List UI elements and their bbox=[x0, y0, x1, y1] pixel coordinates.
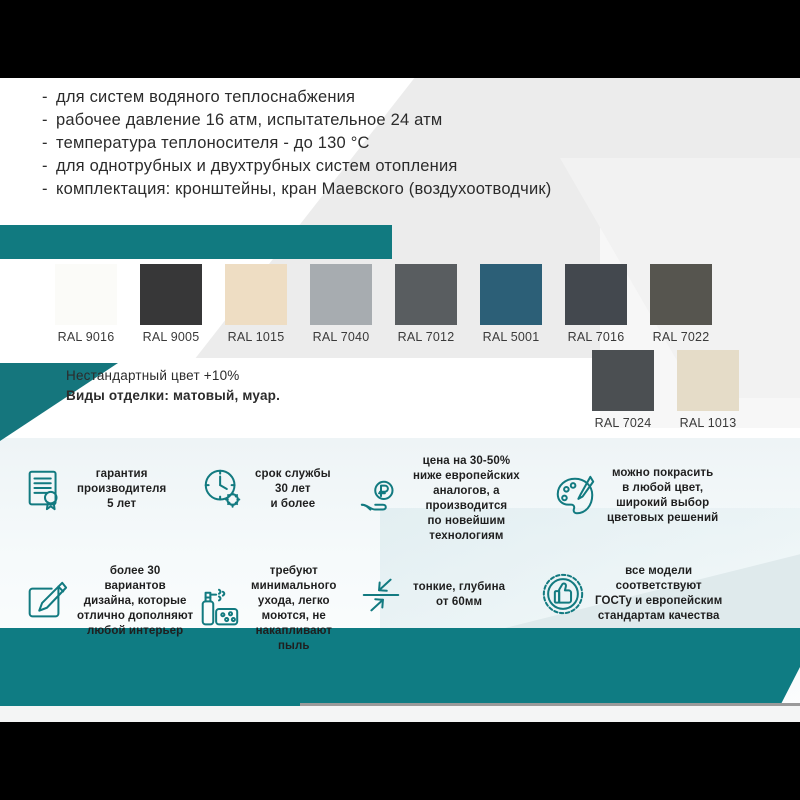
bullet-dash: - bbox=[42, 178, 56, 201]
color-swatch-cell[interactable]: RAL 7040 bbox=[310, 264, 372, 344]
depth-arrows-icon bbox=[358, 572, 404, 618]
feature-item: более 30вариантовдизайна, которыеотлично… bbox=[22, 564, 202, 639]
bullet-dash: - bbox=[42, 109, 56, 132]
hand-ruble-icon bbox=[358, 476, 404, 522]
feature-item: срок службы30 лети более bbox=[200, 466, 365, 512]
spec-text: температура теплоносителя - до 130 °C bbox=[56, 134, 370, 152]
note-finish-types: Виды отделки: матовый, муар. bbox=[66, 386, 280, 406]
certificate-icon bbox=[22, 466, 68, 512]
slide-canvas: -для систем водяного теплоснабжения -раб… bbox=[0, 0, 800, 800]
bullet-dash: - bbox=[42, 155, 56, 178]
color-swatch-box bbox=[225, 264, 287, 325]
spray-sponge-icon bbox=[196, 586, 242, 632]
bullet-dash: - bbox=[42, 132, 56, 155]
color-swatch-cell[interactable]: RAL 7016 bbox=[565, 264, 627, 344]
feature-label: срок службы30 лети более bbox=[255, 467, 331, 512]
color-swatch-label: RAL 7024 bbox=[592, 416, 654, 430]
decorative-white-base bbox=[0, 706, 800, 722]
color-swatch-box bbox=[140, 264, 202, 325]
feature-item: требуютминимальногоухода, легкомоются, н… bbox=[196, 564, 361, 654]
color-swatch-label: RAL 9005 bbox=[140, 330, 202, 344]
feature-item: тонкие, глубинаот 60мм bbox=[358, 572, 543, 618]
color-swatch-label: RAL 7022 bbox=[650, 330, 712, 344]
color-swatch-label: RAL 7040 bbox=[310, 330, 372, 344]
color-swatch-cell[interactable]: RAL 7024 bbox=[592, 350, 654, 430]
color-swatch-box bbox=[565, 264, 627, 325]
note-custom-color: Нестандартный цвет +10% bbox=[66, 366, 280, 386]
color-swatch-cell[interactable]: RAL 1015 bbox=[225, 264, 287, 344]
bullet-dash: - bbox=[42, 86, 56, 109]
feature-item: все моделисоответствуютГОСТу и европейск… bbox=[540, 564, 755, 624]
color-swatch-cell[interactable]: RAL 7012 bbox=[395, 264, 457, 344]
color-swatch-box bbox=[650, 264, 712, 325]
spec-item: -для систем водяного теплоснабжения bbox=[42, 86, 662, 109]
feature-item: гарантияпроизводителя5 лет bbox=[22, 466, 197, 512]
feature-label: требуютминимальногоухода, легкомоются, н… bbox=[251, 564, 337, 654]
spec-item: -комплектация: кронштейны, кран Маевског… bbox=[42, 178, 662, 201]
spec-item: -рабочее давление 16 атм, испытательное … bbox=[42, 109, 662, 132]
color-gamma-banner bbox=[0, 225, 392, 259]
feature-label: можно покраситьв любой цвет,широкий выбо… bbox=[607, 466, 718, 526]
color-swatch-box bbox=[395, 264, 457, 325]
spec-text: для однотрубных и двухтрубных систем ото… bbox=[56, 157, 458, 175]
feature-item: можно покраситьв любой цвет,широкий выбо… bbox=[552, 466, 752, 526]
color-swatch-row-secondary: RAL 7024RAL 1013 bbox=[592, 350, 739, 430]
color-swatch-label: RAL 7016 bbox=[565, 330, 627, 344]
spec-item: -температура теплоносителя - до 130 °C bbox=[42, 132, 662, 155]
spec-text: для систем водяного теплоснабжения bbox=[56, 88, 355, 106]
color-swatch-row-primary: RAL 9016RAL 9005RAL 1015RAL 7040RAL 7012… bbox=[55, 264, 712, 344]
color-notes: Нестандартный цвет +10% Виды отделки: ма… bbox=[66, 366, 280, 406]
feature-label: цена на 30-50%ниже европейскиханалогов, … bbox=[413, 454, 520, 544]
feature-label: все моделисоответствуютГОСТу и европейск… bbox=[595, 564, 722, 624]
color-swatch-label: RAL 5001 bbox=[480, 330, 542, 344]
decorative-teal-band-bottom bbox=[0, 628, 800, 706]
color-swatch-label: RAL 7012 bbox=[395, 330, 457, 344]
color-swatch-box bbox=[55, 264, 117, 325]
palette-brush-icon bbox=[552, 473, 598, 519]
spec-text: рабочее давление 16 атм, испытательное 2… bbox=[56, 111, 442, 129]
color-swatch-label: RAL 1013 bbox=[677, 416, 739, 430]
feature-label: более 30вариантовдизайна, которыеотлично… bbox=[77, 564, 193, 639]
color-swatch-label: RAL 1015 bbox=[225, 330, 287, 344]
spec-text: комплектация: кронштейны, кран Маевского… bbox=[56, 180, 552, 198]
color-swatch-cell[interactable]: RAL 1013 bbox=[677, 350, 739, 430]
color-swatch-cell[interactable]: RAL 5001 bbox=[480, 264, 542, 344]
specifications-list: -для систем водяного теплоснабжения -раб… bbox=[42, 86, 662, 201]
clock-gear-icon bbox=[200, 466, 246, 512]
color-swatch-box bbox=[310, 264, 372, 325]
color-swatch-cell[interactable]: RAL 9005 bbox=[140, 264, 202, 344]
color-swatch-box bbox=[480, 264, 542, 325]
color-swatch-cell[interactable]: RAL 7022 bbox=[650, 264, 712, 344]
feature-item: цена на 30-50%ниже европейскиханалогов, … bbox=[358, 454, 548, 544]
feature-label: гарантияпроизводителя5 лет bbox=[77, 467, 166, 512]
slide-content: -для систем водяного теплоснабжения -раб… bbox=[0, 78, 800, 722]
thumbs-up-badge-icon bbox=[540, 571, 586, 617]
color-swatch-box bbox=[592, 350, 654, 411]
color-swatch-box bbox=[677, 350, 739, 411]
pencil-design-icon bbox=[22, 579, 68, 625]
feature-label: тонкие, глубинаот 60мм bbox=[413, 580, 505, 610]
color-swatch-label: RAL 9016 bbox=[55, 330, 117, 344]
spec-item: -для однотрубных и двухтрубных систем от… bbox=[42, 155, 662, 178]
color-swatch-cell[interactable]: RAL 9016 bbox=[55, 264, 117, 344]
